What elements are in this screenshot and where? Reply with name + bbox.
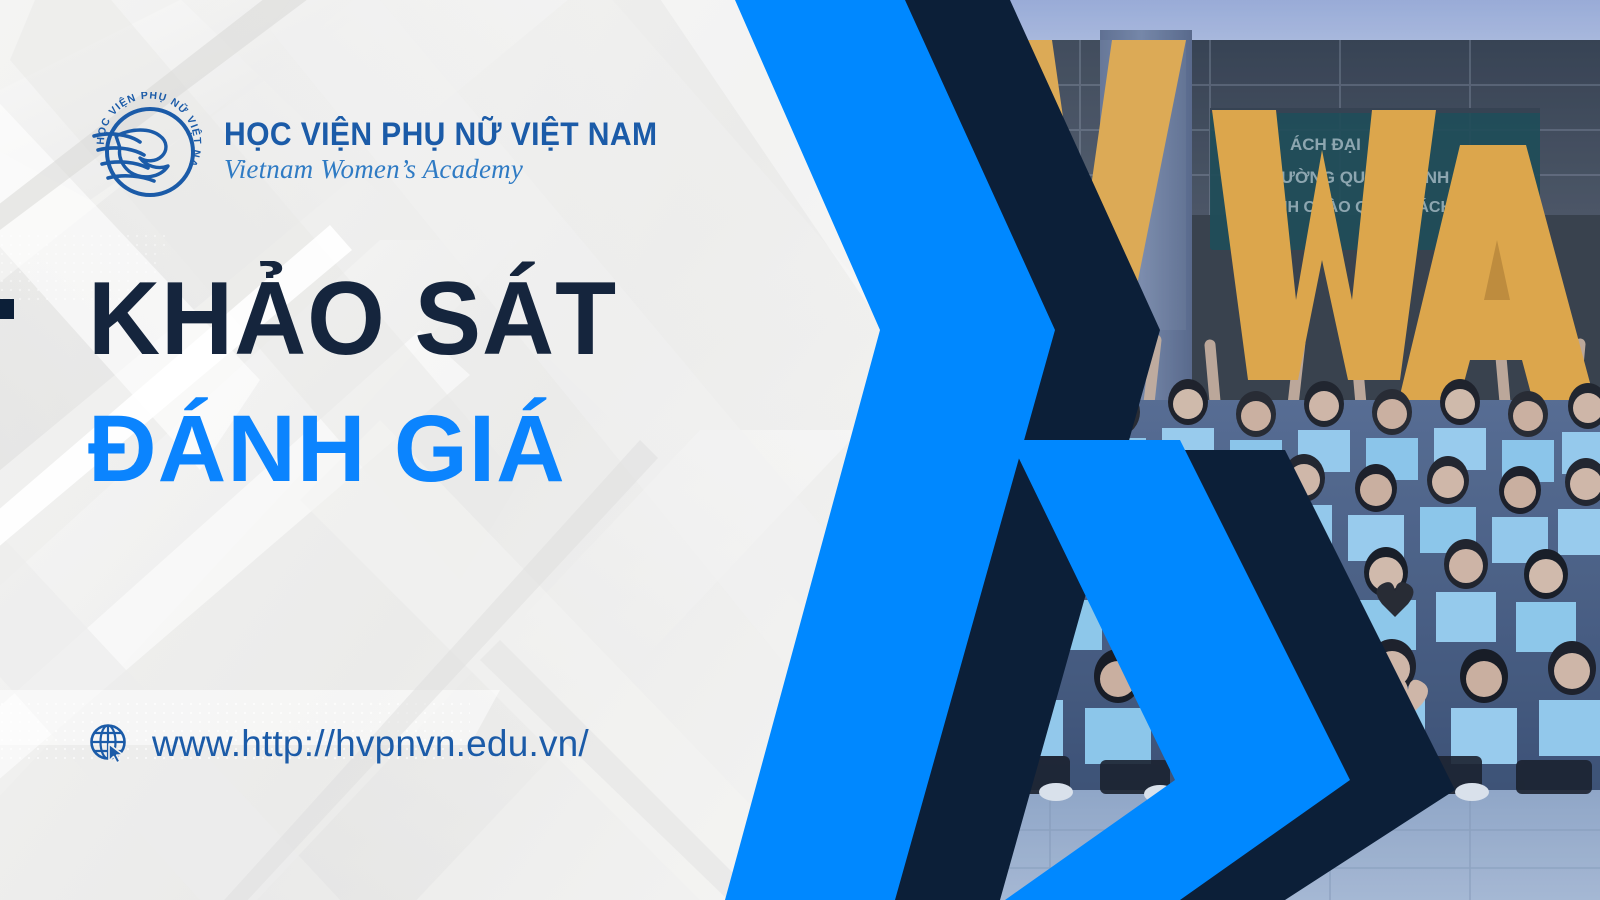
- globe-cursor-icon: [88, 722, 132, 766]
- title-line-1: KHẢO SÁT: [88, 272, 617, 368]
- website-url[interactable]: www.http://hvpnvn.edu.vn/: [152, 723, 589, 765]
- academy-logo: HỌC VIỆN PHỤ NỮ VIỆT NAM HỌC VIỆN PHỤ NỮ…: [88, 92, 685, 210]
- academy-name-en: Vietnam Women’s Academy: [224, 155, 685, 185]
- title-line-2: ĐÁNH GIÁ: [88, 404, 639, 494]
- logo-text-block: HỌC VIỆN PHỤ NỮ VIỆT NAM Vietnam Women’s…: [224, 118, 685, 185]
- page-title: KHẢO SÁT ĐÁNH GIÁ: [88, 272, 639, 494]
- dove-circle-emblem-icon: HỌC VIỆN PHỤ NỮ VIỆT NAM: [88, 92, 206, 210]
- slide-canvas: ÁCH ĐẠI NG TRƯỜNG QUẢNG BÌNH KÍNH CHÀO Q…: [0, 0, 1600, 900]
- navy-accent-mark: [0, 299, 14, 319]
- website-row[interactable]: www.http://hvpnvn.edu.vn/: [88, 722, 589, 766]
- academy-name-vi: HỌC VIỆN PHỤ NỮ VIỆT NAM: [224, 118, 657, 151]
